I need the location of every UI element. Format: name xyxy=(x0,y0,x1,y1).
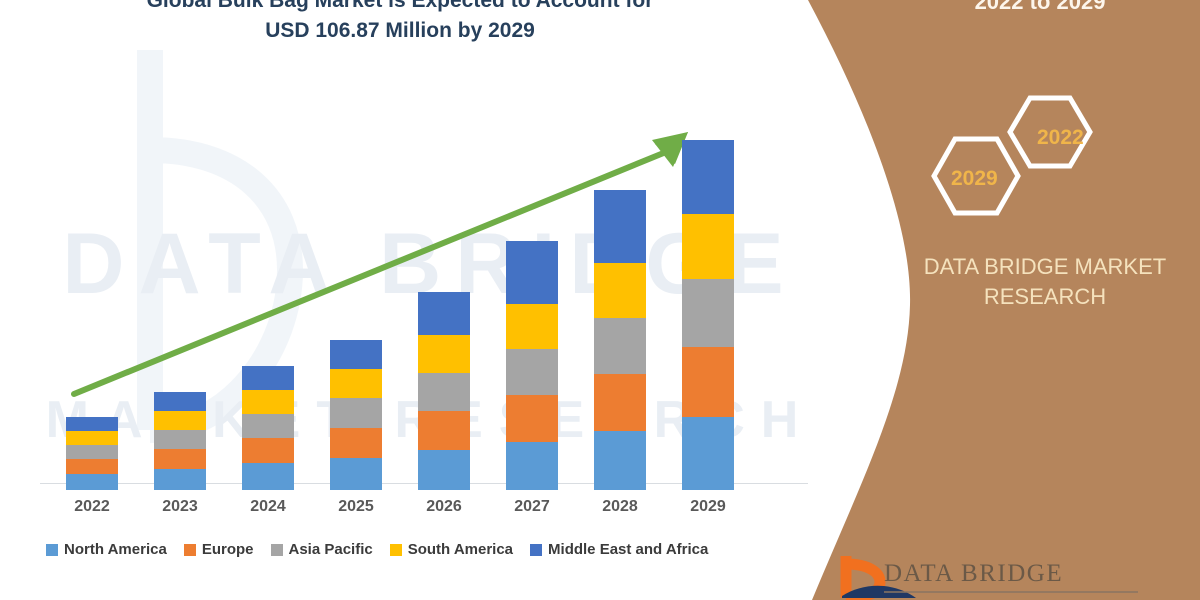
bar-2028 xyxy=(594,190,646,490)
bar-segment xyxy=(594,431,646,490)
bar-segment xyxy=(506,395,558,442)
brand-line-2: RESEARCH xyxy=(895,282,1195,312)
legend-label: South America xyxy=(408,541,513,558)
bar-segment xyxy=(418,292,470,335)
bar-segment xyxy=(66,459,118,474)
bar-segment xyxy=(682,279,734,347)
bar-segment xyxy=(418,411,470,450)
legend-label: Middle East and Africa xyxy=(548,541,708,558)
bar-segment xyxy=(418,450,470,490)
brand-name: DATA BRIDGE MARKET RESEARCH xyxy=(895,252,1195,312)
bar-segment xyxy=(594,374,646,431)
bar-segment xyxy=(66,431,118,445)
bar-2023 xyxy=(154,392,206,490)
bar-segment xyxy=(682,214,734,279)
bar-segment xyxy=(594,318,646,374)
bar-segment xyxy=(242,438,294,463)
legend-item[interactable]: Asia Pacific xyxy=(271,541,373,558)
bar-2024 xyxy=(242,366,294,490)
legend-item[interactable]: South America xyxy=(390,541,513,558)
bar-segment xyxy=(242,414,294,438)
hexagon-group: 2022 2029 xyxy=(925,95,1185,220)
x-axis-tick-2027: 2027 xyxy=(492,498,572,516)
x-axis-tick-2023: 2023 xyxy=(140,498,220,516)
x-axis-tick-2025: 2025 xyxy=(316,498,396,516)
bar-segment xyxy=(418,373,470,411)
bar-segment xyxy=(66,445,118,459)
bar-segment xyxy=(330,458,382,490)
bar-2027 xyxy=(506,241,558,490)
bar-segment xyxy=(506,442,558,490)
legend-label: North America xyxy=(64,541,167,558)
x-axis-tick-2028: 2028 xyxy=(580,498,660,516)
bar-segment xyxy=(594,190,646,263)
bar-segment xyxy=(594,263,646,318)
hexagon-outline-icon xyxy=(925,95,1185,220)
bar-segment xyxy=(330,369,382,398)
bar-segment xyxy=(66,417,118,431)
stacked-bar-chart xyxy=(40,100,800,490)
bar-segment xyxy=(682,347,734,417)
brand-line-1: DATA BRIDGE MARKET xyxy=(895,252,1195,282)
x-axis-labels: 20222023202420252026202720282029 xyxy=(40,498,800,524)
bar-2026 xyxy=(418,292,470,490)
x-axis-tick-2026: 2026 xyxy=(404,498,484,516)
legend-label: Asia Pacific xyxy=(289,541,373,558)
bar-segment xyxy=(506,349,558,395)
bar-segment xyxy=(682,417,734,490)
x-axis-tick-2029: 2029 xyxy=(668,498,748,516)
legend-item[interactable]: Middle East and Africa xyxy=(530,541,708,558)
bar-segment xyxy=(242,366,294,390)
legend-swatch-icon xyxy=(530,544,542,556)
panel-period-title: 2022 to 2029 xyxy=(900,0,1180,16)
bar-segment xyxy=(154,430,206,449)
bar-segment xyxy=(330,340,382,369)
hexagon-start-year: 2022 xyxy=(1037,126,1084,150)
bar-2029 xyxy=(682,140,734,490)
bar-segment xyxy=(242,390,294,414)
legend-swatch-icon xyxy=(271,544,283,556)
infographic-canvas: DATA BRIDGE MARKET RESEARCH Global Bulk … xyxy=(0,0,1200,600)
legend-swatch-icon xyxy=(184,544,196,556)
legend-item[interactable]: Europe xyxy=(184,541,254,558)
bar-segment xyxy=(66,474,118,490)
bar-segment xyxy=(154,449,206,469)
legend-swatch-icon xyxy=(390,544,402,556)
bar-segment xyxy=(330,398,382,428)
x-axis-tick-2024: 2024 xyxy=(228,498,308,516)
bar-segment xyxy=(242,463,294,490)
bar-2022 xyxy=(66,417,118,490)
bar-segment xyxy=(154,469,206,490)
corner-logo-text: DATA BRIDGE xyxy=(884,560,1063,588)
bar-segment xyxy=(154,411,206,430)
bar-segment xyxy=(418,335,470,373)
legend-swatch-icon xyxy=(46,544,58,556)
legend-item[interactable]: North America xyxy=(46,541,167,558)
x-axis-tick-2022: 2022 xyxy=(52,498,132,516)
bar-segment xyxy=(506,304,558,349)
chart-legend: North AmericaEuropeAsia PacificSouth Ame… xyxy=(46,541,708,558)
bar-segment xyxy=(154,392,206,411)
bar-2025 xyxy=(330,340,382,490)
bar-segment xyxy=(330,428,382,458)
hexagon-end-year: 2029 xyxy=(951,167,998,191)
bar-segment xyxy=(682,140,734,214)
legend-label: Europe xyxy=(202,541,254,558)
bar-segment xyxy=(506,241,558,304)
